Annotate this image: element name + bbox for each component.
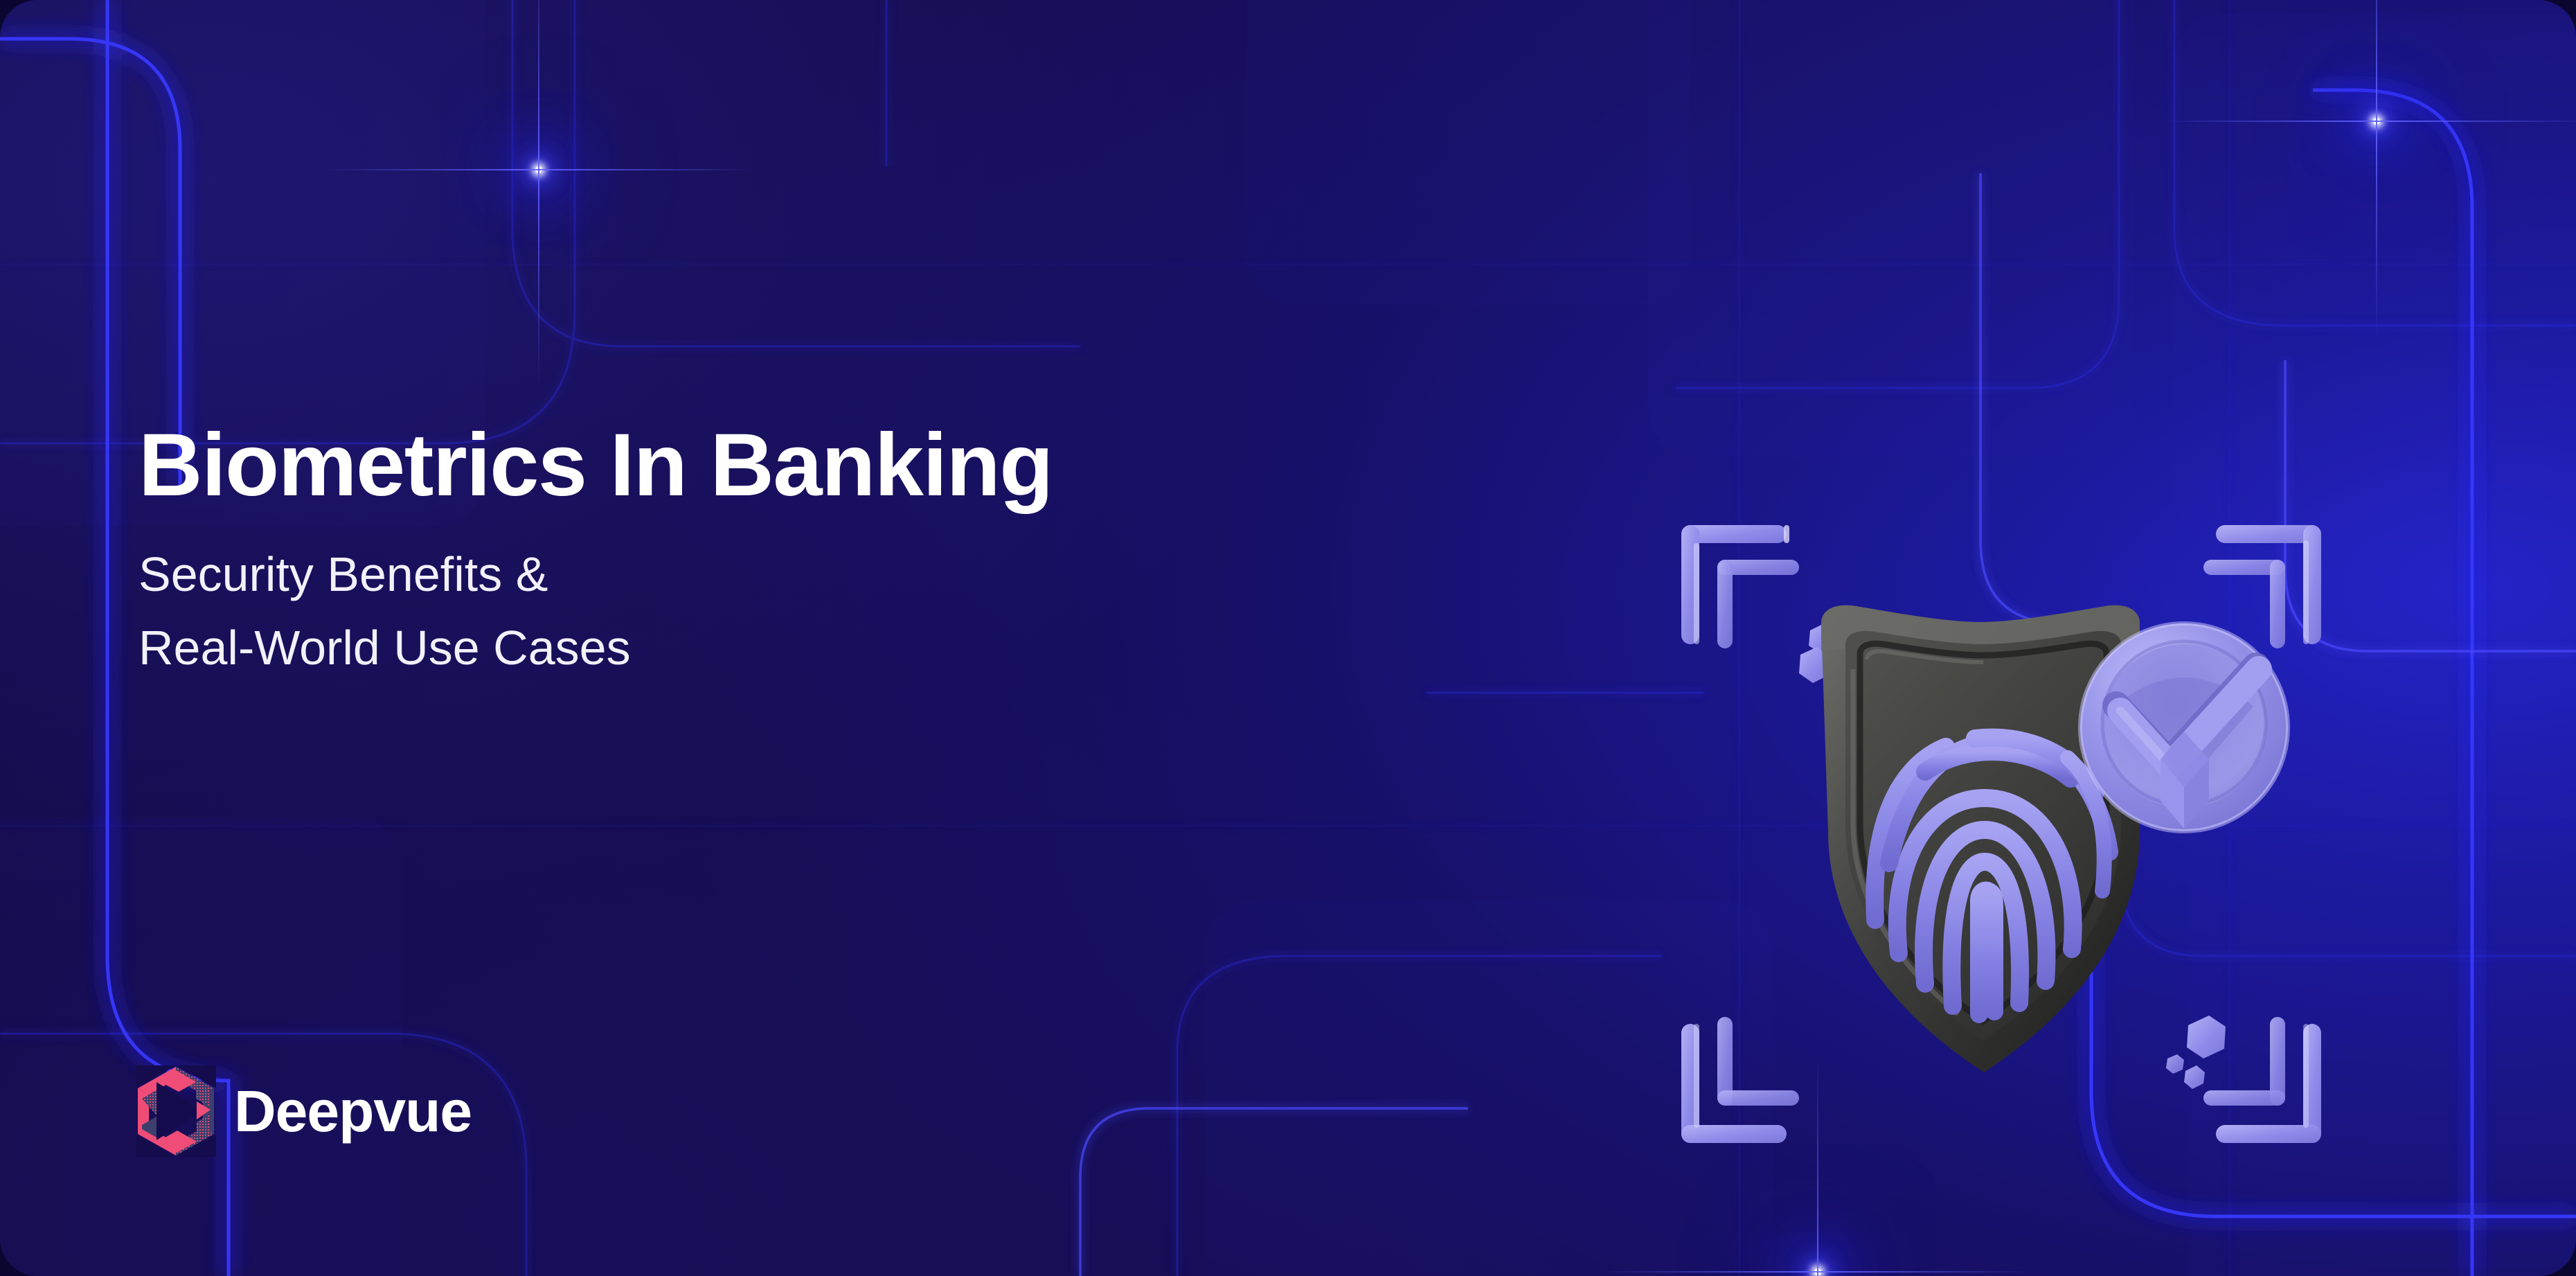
glow-node-top-left: [535, 166, 542, 173]
brand-name: Deepvue: [234, 1082, 472, 1140]
deepvue-hexagon-icon: [136, 1065, 216, 1157]
page-subtitle: Security Benefits & Real-World Use Cases: [138, 538, 1523, 685]
scanner-bracket-bottom-left: [1681, 1017, 1799, 1143]
scanner-bracket-top-left: [1681, 525, 1799, 648]
glow-node-bottom-center: [1814, 1268, 1821, 1275]
shield-scan-graphic: [1662, 513, 2341, 1164]
hero-banner: Biometrics In Banking Security Benefits …: [0, 0, 2576, 1276]
subtitle-line-2: Real-World Use Cases: [138, 611, 1523, 684]
brand-logo[interactable]: Deepvue: [136, 1065, 472, 1157]
glow-node-top-right: [2373, 118, 2380, 125]
verified-check-badge: [2080, 623, 2288, 831]
biometric-shield-illustration: [1662, 513, 2341, 1164]
page-title: Biometrics In Banking: [138, 421, 1523, 510]
subtitle-line-1: Security Benefits &: [138, 547, 548, 601]
headline-block: Biometrics In Banking Security Benefits …: [138, 421, 1523, 685]
